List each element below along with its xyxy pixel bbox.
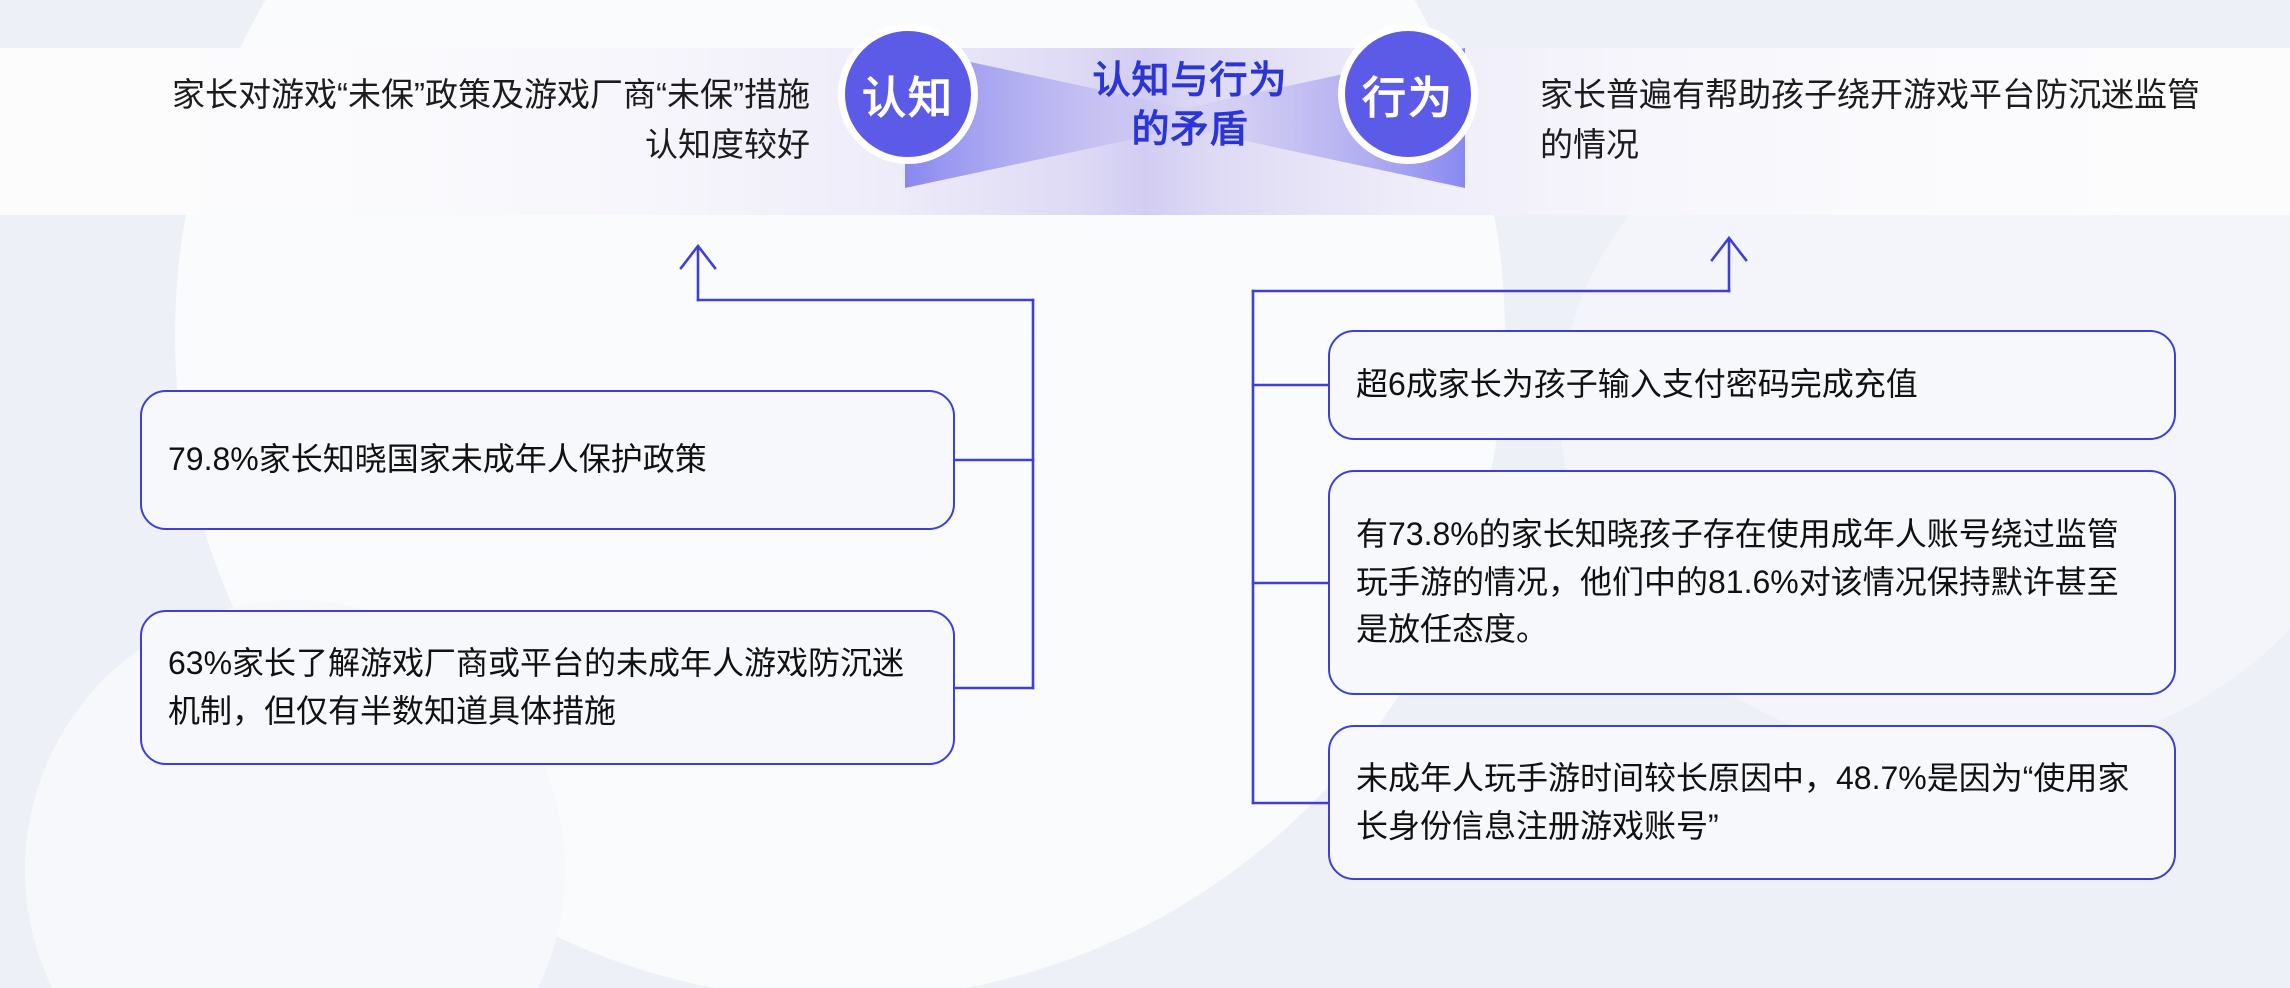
info-card-right-3-text: 未成年人玩手游时间较长原因中，48.7%是因为“使用家长身份信息注册游戏账号” (1330, 755, 2174, 850)
node-behavior-label: 行为 (1362, 62, 1454, 126)
page-title: 认知与行为 的矛盾 (1040, 46, 1340, 166)
node-cognition-label: 认知 (862, 62, 954, 126)
info-card-left-1[interactable]: 79.8%家长知晓国家未成年人保护政策 (140, 390, 955, 530)
diagram-canvas: 家长对游戏“未保”政策及游戏厂商“未保”措施认知度较好 家长普遍有帮助孩子绕开游… (0, 0, 2290, 988)
info-card-left-2-text: 63%家长了解游戏厂商或平台的未成年人游戏防沉迷机制，但仅有半数知道具体措施 (142, 640, 953, 735)
info-card-right-1-text: 超6成家长为孩子输入支付密码完成充值 (1330, 361, 2174, 408)
page-title-line1: 认知与行为 (1092, 57, 1287, 106)
page-title-line2: 的矛盾 (1131, 106, 1248, 155)
header-summary-right: 家长普遍有帮助孩子绕开游戏平台防沉迷监管的情况 (1540, 70, 2200, 170)
header-summary-left: 家长对游戏“未保”政策及游戏厂商“未保”措施认知度较好 (150, 70, 810, 170)
info-card-right-1[interactable]: 超6成家长为孩子输入支付密码完成充值 (1328, 330, 2176, 440)
info-card-right-2[interactable]: 有73.8%的家长知晓孩子存在使用成年人账号绕过监管玩手游的情况，他们中的81.… (1328, 470, 2176, 695)
info-card-right-2-text: 有73.8%的家长知晓孩子存在使用成年人账号绕过监管玩手游的情况，他们中的81.… (1330, 511, 2174, 653)
node-behavior[interactable]: 行为 (1338, 24, 1478, 164)
node-cognition[interactable]: 认知 (838, 24, 978, 164)
info-card-right-3[interactable]: 未成年人玩手游时间较长原因中，48.7%是因为“使用家长身份信息注册游戏账号” (1328, 725, 2176, 880)
info-card-left-2[interactable]: 63%家长了解游戏厂商或平台的未成年人游戏防沉迷机制，但仅有半数知道具体措施 (140, 610, 955, 765)
info-card-left-1-text: 79.8%家长知晓国家未成年人保护政策 (142, 436, 953, 483)
